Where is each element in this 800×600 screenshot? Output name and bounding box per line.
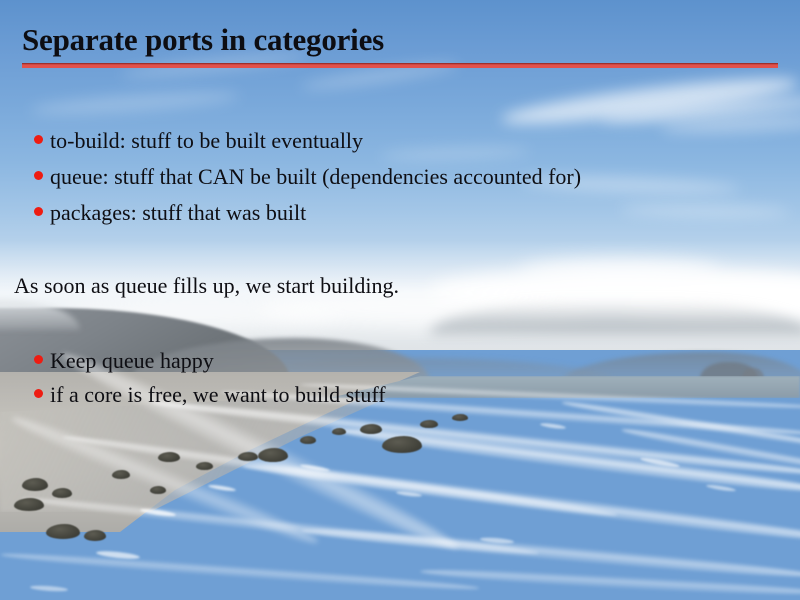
seaweed-clump-icon xyxy=(420,420,438,428)
list-item-label: queue: stuff that CAN be built (dependen… xyxy=(50,166,581,188)
seaweed-clump-icon xyxy=(112,470,130,479)
seaweed-clump-icon xyxy=(196,462,213,470)
title-underline-rule xyxy=(22,63,778,68)
seaweed-clump-icon xyxy=(360,424,382,434)
seaweed-clump-icon xyxy=(52,488,72,498)
bullet-dot-icon xyxy=(34,135,43,144)
list-item-label: if a core is free, we want to build stuf… xyxy=(50,384,386,406)
list-item: packages: stuff that was built xyxy=(34,202,581,238)
seaweed-clump-icon xyxy=(258,448,288,462)
bullet-list-bottom: Keep queue happy if a core is free, we w… xyxy=(34,350,386,418)
bullet-dot-icon xyxy=(34,389,43,398)
list-item-label: to-build: stuff to be built eventually xyxy=(50,130,363,152)
list-item-label: packages: stuff that was built xyxy=(50,202,306,224)
seaweed-clump-icon xyxy=(14,498,44,511)
list-item: Keep queue happy xyxy=(34,350,386,384)
seaweed-clump-icon xyxy=(238,452,258,461)
bullet-dot-icon xyxy=(34,355,43,364)
bullet-dot-icon xyxy=(34,171,43,180)
seaweed-clump-icon xyxy=(332,428,346,435)
seaweed-clump-icon xyxy=(22,478,48,491)
list-item: to-build: stuff to be built eventually xyxy=(34,130,581,166)
seaweed-clump-icon xyxy=(158,452,180,462)
bullet-dot-icon xyxy=(34,207,43,216)
list-item: queue: stuff that CAN be built (dependen… xyxy=(34,166,581,202)
page-title: Separate ports in categories xyxy=(22,22,384,58)
seaweed-clump-icon xyxy=(84,530,106,541)
presentation-slide: Separate ports in categories to-build: s… xyxy=(0,0,800,600)
background-beach-photo xyxy=(0,0,800,600)
seaweed-clump-icon xyxy=(382,436,422,453)
standalone-paragraph: As soon as queue fills up, we start buil… xyxy=(14,275,399,297)
list-item-label: Keep queue happy xyxy=(50,350,214,372)
seaweed-clump-icon xyxy=(452,414,468,421)
seaweed-clump-icon xyxy=(300,436,316,444)
seaweed-clump-icon xyxy=(150,486,166,494)
list-item: if a core is free, we want to build stuf… xyxy=(34,384,386,418)
seaweed-clump-icon xyxy=(46,524,80,539)
bullet-list-top: to-build: stuff to be built eventually q… xyxy=(34,130,581,238)
